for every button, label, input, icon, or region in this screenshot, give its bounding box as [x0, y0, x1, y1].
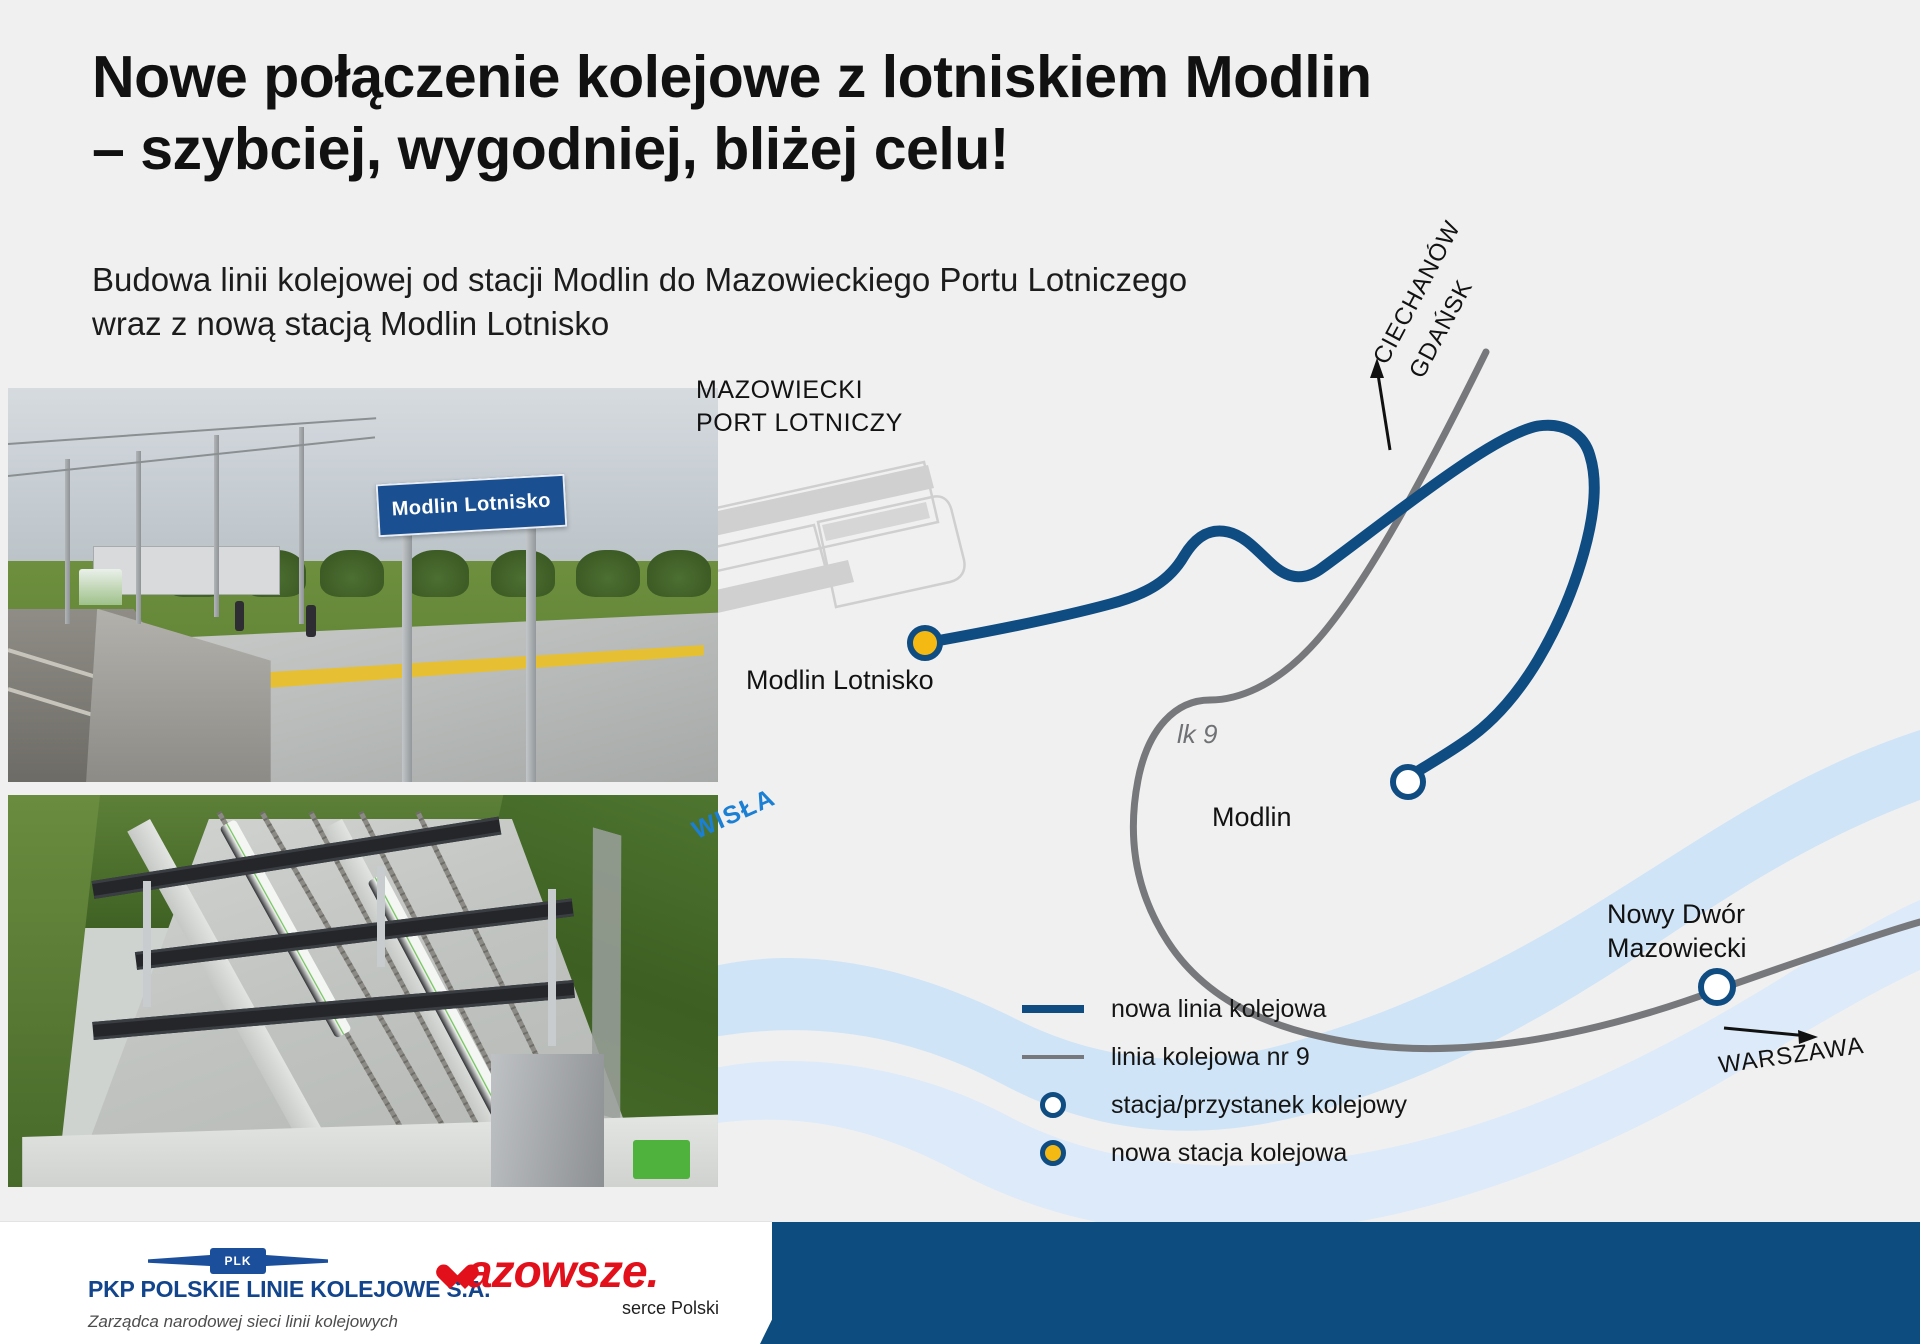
wing-right-icon: [266, 1255, 328, 1266]
label-line-9: lk 9: [1177, 719, 1217, 750]
tree-shape: [491, 550, 555, 597]
catenary-mast: [65, 459, 70, 624]
tree-shape: [406, 550, 470, 597]
mazowsze-logo: azowsze. serce Polski: [435, 1248, 725, 1319]
plk-company-name: PKP POLSKIE LINIE KOLEJOWE S.A.: [88, 1276, 388, 1303]
title-line-1: Nowe połączenie kolejowe z lotniskiem Mo…: [92, 42, 1862, 114]
mazowsze-wordmark: azowsze.: [435, 1248, 725, 1294]
new-line-swatch: [1022, 1005, 1084, 1013]
page-title: Nowe połączenie kolejowe z lotniskiem Mo…: [92, 42, 1862, 186]
map-legend: nowa linia kolejowa linia kolejowa nr 9 …: [1015, 985, 1407, 1177]
wing-left-icon: [148, 1255, 210, 1266]
legend-item-line-9: linia kolejowa nr 9: [1015, 1033, 1407, 1081]
catenary-mast: [299, 427, 304, 624]
label-nowy-dwor-mazowiecki: Nowy Dwór Mazowiecki: [1607, 898, 1747, 966]
new-station-marker-icon: [1040, 1140, 1066, 1166]
legend-label-new-station: nowa stacja kolejowa: [1111, 1139, 1347, 1168]
tree-shape: [576, 550, 640, 597]
plk-badge-text: PLK: [210, 1248, 266, 1274]
line-9-swatch: [1022, 1055, 1084, 1059]
label-nowy-dwor-line-2: Mazowiecki: [1607, 932, 1747, 966]
legend-key-blue-line: [1015, 1005, 1091, 1013]
footer-blue-band: [772, 1222, 1920, 1344]
photo-train-nose: [633, 1140, 690, 1179]
legend-item-station: stacja/przystanek kolejowy: [1015, 1081, 1407, 1129]
tree-shape: [320, 550, 384, 597]
label-nowy-dwor-line-1: Nowy Dwór: [1607, 898, 1747, 932]
photo-aerial-station-render: [8, 795, 718, 1187]
catenary-mast: [136, 451, 141, 624]
gantry-pole: [377, 866, 385, 968]
legend-item-new-line: nowa linia kolejowa: [1015, 985, 1407, 1033]
gantry-pole: [143, 881, 151, 1006]
airport-label-line-1: MAZOWIECKI: [696, 374, 903, 407]
pkp-plk-logo: PLK PKP POLSKIE LINIE KOLEJOWE S.A. Zarz…: [88, 1248, 388, 1332]
legend-label-line-9: linia kolejowa nr 9: [1111, 1043, 1310, 1072]
person-figure: [235, 601, 244, 631]
heart-icon: [435, 1261, 465, 1291]
new-railway-line: [925, 425, 1594, 778]
railway-line-9: [1133, 352, 1920, 1049]
photo-train: [79, 569, 122, 604]
station-sign-text: Modlin Lotnisko: [391, 489, 551, 521]
photo-platform-render: Modlin Lotnisko: [8, 388, 718, 782]
station-name-sign: Modlin Lotnisko: [376, 473, 567, 537]
station-marker-nowy-dwor[interactable]: [1701, 971, 1733, 1003]
catenary-mast: [214, 435, 219, 616]
photo-lift-shaft: [491, 1054, 605, 1187]
plk-tagline: Zarządca narodowej sieci linii kolejowyc…: [88, 1312, 388, 1332]
person-figure: [306, 605, 316, 637]
label-modlin: Modlin: [1212, 802, 1292, 833]
station-marker-modlin-lotnisko[interactable]: [910, 628, 940, 658]
station-marker-modlin[interactable]: [1393, 767, 1423, 797]
legend-key-white-dot: [1015, 1092, 1091, 1118]
subtitle-line-1: Budowa linii kolejowej od stacji Modlin …: [92, 258, 1592, 302]
legend-key-gray-line: [1015, 1055, 1091, 1059]
legend-label-station: stacja/przystanek kolejowy: [1111, 1091, 1407, 1120]
legend-key-yellow-dot: [1015, 1140, 1091, 1166]
title-line-2: – szybciej, wygodniej, bliżej celu!: [92, 114, 1862, 186]
plk-wings-emblem: PLK: [148, 1248, 328, 1274]
sign-post: [402, 522, 412, 782]
gantry-pole: [548, 889, 556, 1046]
airport-label: MAZOWIECKI PORT LOTNICZY: [696, 374, 903, 439]
label-modlin-lotnisko: Modlin Lotnisko: [746, 665, 934, 696]
tree-shape: [647, 550, 711, 597]
footer-divider: [0, 1221, 772, 1222]
mazowsze-word-text: azowsze.: [467, 1245, 658, 1297]
sign-post: [526, 522, 536, 782]
infographic-page: Nowe połączenie kolejowe z lotniskiem Mo…: [0, 0, 1920, 1344]
legend-label-new-line: nowa linia kolejowa: [1111, 995, 1326, 1024]
station-marker-icon: [1040, 1092, 1066, 1118]
airport-label-line-2: PORT LOTNICZY: [696, 407, 903, 440]
direction-arrow-north: [1370, 358, 1390, 450]
mazowsze-tagline: serce Polski: [435, 1298, 725, 1319]
legend-item-new-station: nowa stacja kolejowa: [1015, 1129, 1407, 1177]
airport-terminal-shapes: [718, 462, 964, 637]
